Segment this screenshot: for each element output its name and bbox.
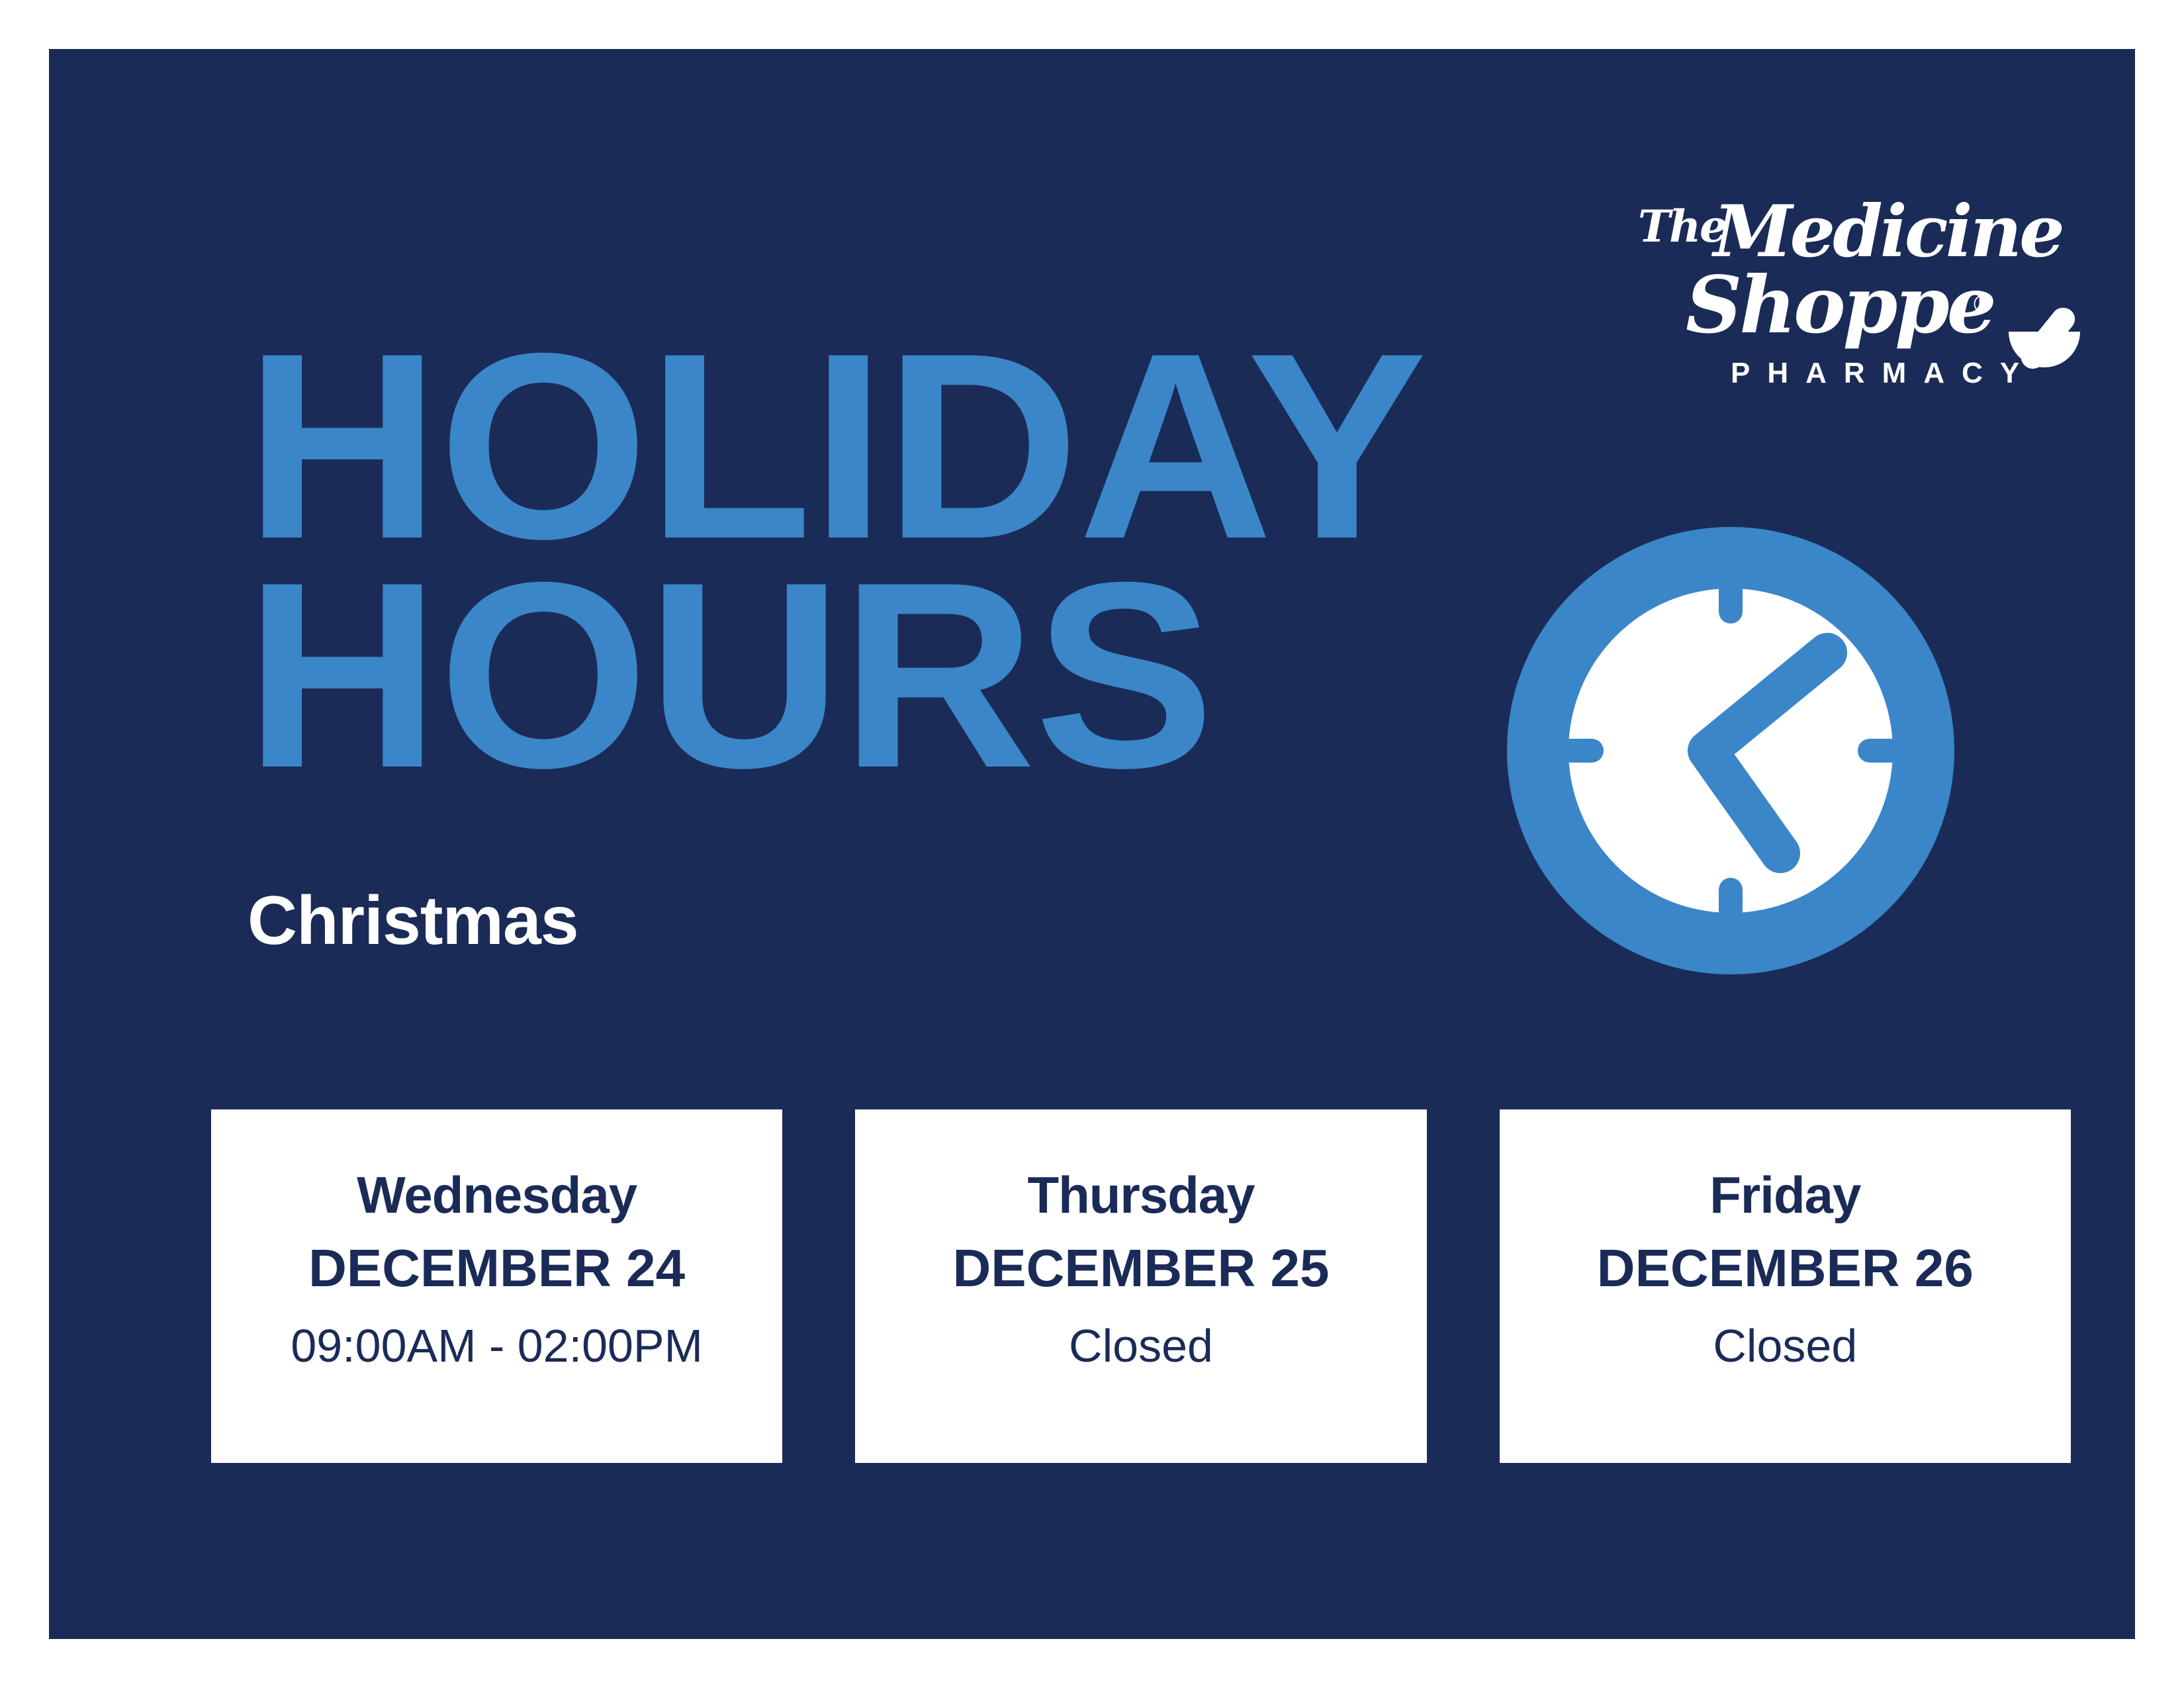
card-day-name: Friday (1709, 1169, 1860, 1221)
medicine-shoppe-logo: The Medicine Shoppe ® PHARMACY (1634, 198, 2084, 397)
hours-card-list: Wednesday DECEMBER 24 09:00AM - 02:00PM … (211, 1109, 2071, 1463)
card-date: DECEMBER 24 (308, 1242, 685, 1295)
card-hours: 09:00AM - 02:00PM (291, 1323, 703, 1369)
page-title-line-2: HOURS (245, 556, 1426, 794)
logo-tagline-pharmacy: PHARMACY (1731, 357, 2036, 390)
hours-card: Thursday DECEMBER 25 Closed (855, 1109, 1426, 1463)
card-date: DECEMBER 25 (952, 1242, 1329, 1295)
holiday-name-subtitle: Christmas (248, 882, 578, 961)
page-title: HOLIDAY HOURS (245, 327, 1402, 794)
hours-card: Wednesday DECEMBER 24 09:00AM - 02:00PM (211, 1109, 782, 1463)
card-day-name: Wednesday (357, 1169, 637, 1221)
card-day-name: Thursday (1027, 1169, 1254, 1221)
card-hours: Closed (1069, 1323, 1213, 1369)
card-hours: Closed (1713, 1323, 1857, 1369)
clock-icon (1507, 527, 1954, 974)
registered-trademark-icon: ® (1974, 291, 1992, 319)
holiday-hours-poster: The Medicine Shoppe ® PHARMACY HOLIDAY H… (49, 49, 2135, 1639)
card-date: DECEMBER 26 (1597, 1242, 1974, 1295)
hours-card: Friday DECEMBER 26 Closed (1500, 1109, 2071, 1463)
